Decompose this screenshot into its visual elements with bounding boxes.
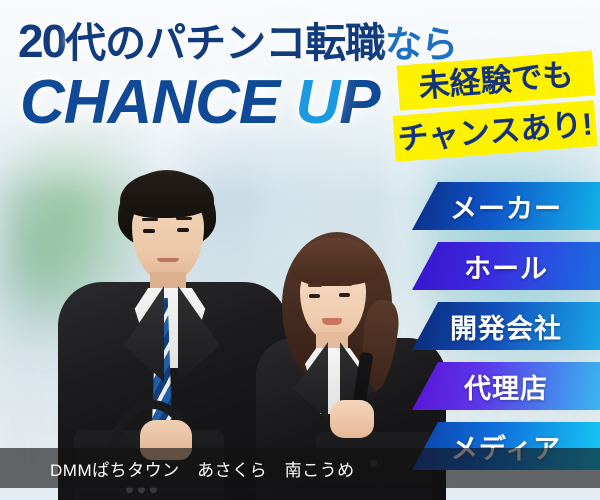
woman-mouth bbox=[322, 318, 342, 325]
page-title: 20代のパチンコ転職なら bbox=[18, 18, 457, 64]
category-button-maker[interactable]: メーカー bbox=[412, 182, 600, 230]
man-mouth bbox=[157, 258, 179, 262]
woman-eye-right bbox=[339, 293, 350, 297]
man-eye-right bbox=[177, 228, 189, 232]
caption-bar: DMMぱちタウン あさくら 南こうめ bbox=[0, 448, 600, 488]
woman-hand bbox=[330, 400, 374, 438]
man-eye-left bbox=[143, 229, 155, 233]
woman-brow-left bbox=[308, 284, 322, 287]
category-button-agency[interactable]: 代理店 bbox=[412, 362, 600, 410]
caption-text: DMMぱちタウン あさくら 南こうめ bbox=[50, 456, 355, 481]
chance-up-logo: CHANCE UP bbox=[20, 72, 380, 134]
man-fringe bbox=[120, 172, 214, 218]
logo-word-chance: CHANCE bbox=[20, 68, 279, 137]
woman-brow-right bbox=[338, 283, 352, 286]
category-button-hall[interactable]: ホール bbox=[412, 242, 600, 290]
man-brow-right bbox=[176, 217, 192, 220]
man-brow-left bbox=[142, 218, 158, 221]
headline-main: 代のパチンコ転職 bbox=[65, 20, 385, 66]
logo-letter-p: P bbox=[339, 68, 379, 137]
logo-letter-u: U bbox=[295, 72, 339, 134]
woman-eye-left bbox=[309, 294, 320, 298]
category-button-development[interactable]: 開発会社 bbox=[412, 302, 600, 350]
headline-number: 20 bbox=[18, 15, 65, 67]
headline-suffix: なら bbox=[385, 24, 457, 65]
advertisement-banner[interactable]: 20代のパチンコ転職なら CHANCE UP 未経験でも チャンスあり! メーカ… bbox=[0, 0, 600, 500]
